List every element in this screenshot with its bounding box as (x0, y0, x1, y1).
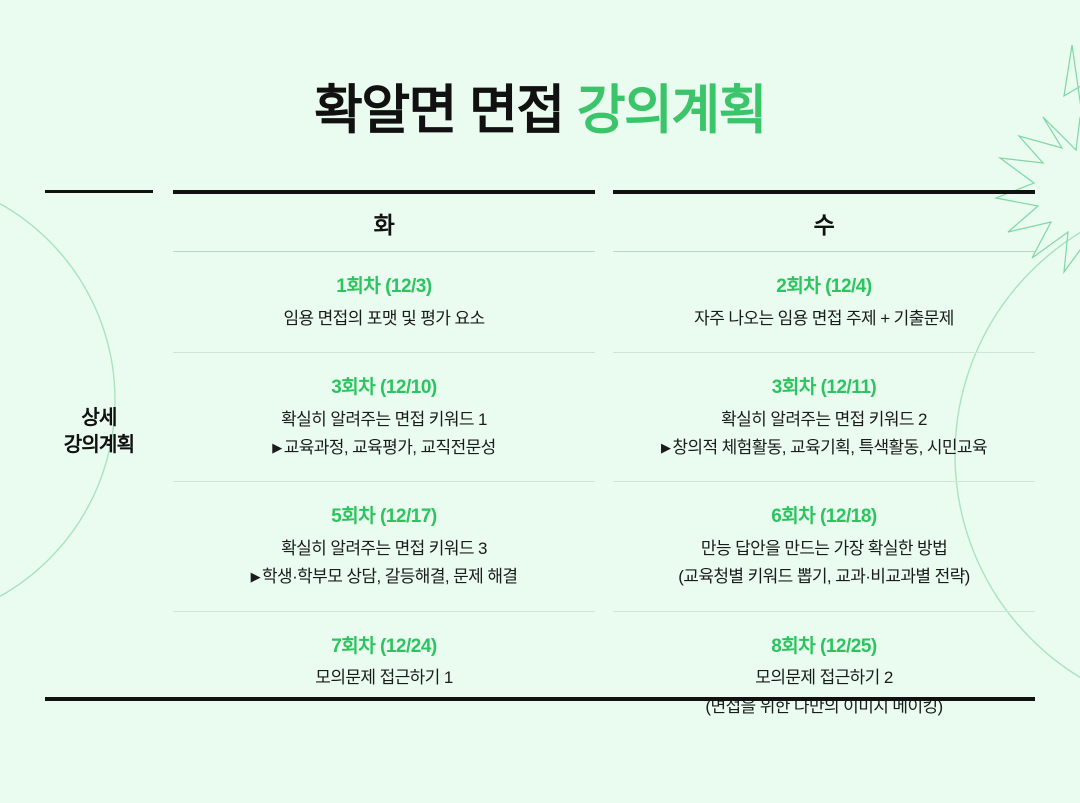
row-label-spacer (45, 612, 153, 740)
session-description: 자주 나오는 임용 면접 주제 + 기출문제 (619, 306, 1029, 332)
cell-wed-1: 2회차 (12/4) 자주 나오는 임용 면접 주제 + 기출문제 (613, 252, 1035, 353)
table-row: 5회차 (12/17) 확실히 알려주는 면접 키워드 3 ▶학생·학부모 상담… (45, 482, 1035, 611)
row-label-spacer (45, 482, 153, 611)
header-label-spacer (45, 194, 153, 252)
column-gap (595, 353, 613, 482)
table-bottom-rule (45, 697, 1035, 701)
session-title: 7회차 (12/24) (179, 634, 589, 660)
session-title: 2회차 (12/4) (619, 274, 1029, 300)
cell-tue-1: 1회차 (12/3) 임용 면접의 포맷 및 평가 요소 (173, 252, 595, 353)
cell-tue-4: 7회차 (12/24) 모의문제 접근하기 1 (173, 612, 595, 740)
session-title: 6회차 (12/18) (619, 504, 1029, 530)
column-gap (595, 612, 613, 740)
table-row: 7회차 (12/24) 모의문제 접근하기 1 8회차 (12/25) 모의문제… (45, 612, 1035, 740)
bullet-arrow-icon: ▶ (251, 569, 260, 584)
session-title: 5회차 (12/17) (179, 504, 589, 530)
cell-tue-3: 5회차 (12/17) 확실히 알려주는 면접 키워드 3 ▶학생·학부모 상담… (173, 482, 595, 611)
session-subdetail: ▶창의적 체험활동, 교육기획, 특색활동, 시민교육 (619, 435, 1029, 461)
cell-wed-4: 8회차 (12/25) 모의문제 접근하기 2 (면접을 위한 나만의 이미지 … (613, 612, 1035, 740)
session-description: 확실히 알려주는 면접 키워드 3 (179, 536, 589, 562)
row-label-detailed-plan: 상세 강의계획 (45, 405, 153, 459)
session-subdetail: ▶학생·학부모 상담, 갈등해결, 문제 해결 (179, 564, 589, 590)
column-gap (595, 194, 613, 252)
row-label-spacer (45, 252, 153, 353)
table-row: 3회차 (12/10) 확실히 알려주는 면접 키워드 1 ▶교육과정, 교육평… (45, 353, 1035, 482)
row-label-line2: 강의계획 (45, 432, 153, 459)
column-gap (595, 252, 613, 353)
session-title: 3회차 (12/10) (179, 375, 589, 401)
cell-wed-3: 6회차 (12/18) 만능 답안을 만드는 가장 확실한 방법 (교육청별 키… (613, 482, 1035, 611)
slide-page: 확알면 면접 강의계획 화 수 (0, 0, 1080, 803)
cell-wed-2: 3회차 (12/11) 확실히 알려주는 면접 키워드 2 ▶창의적 체험활동,… (613, 353, 1035, 482)
session-subdetail: (교육청별 키워드 뽑기, 교과·비교과별 전략) (619, 564, 1029, 590)
session-description: 모의문제 접근하기 1 (179, 665, 589, 691)
session-description: 만능 답안을 만드는 가장 확실한 방법 (619, 536, 1029, 562)
session-description: 모의문제 접근하기 2 (619, 665, 1029, 691)
session-description: 확실히 알려주는 면접 키워드 1 (179, 407, 589, 433)
cell-tue-2: 3회차 (12/10) 확실히 알려주는 면접 키워드 1 ▶교육과정, 교육평… (173, 353, 595, 482)
column-header-wednesday-label: 수 (814, 206, 835, 240)
session-title: 3회차 (12/11) (619, 375, 1029, 401)
page-title-green-part: 강의계획 (577, 81, 766, 140)
session-description: 임용 면접의 포맷 및 평가 요소 (179, 306, 589, 332)
session-title: 1회차 (12/3) (179, 274, 589, 300)
session-subdetail-text: 학생·학부모 상담, 갈등해결, 문제 해결 (262, 567, 517, 586)
session-title: 8회차 (12/25) (619, 634, 1029, 660)
column-header-wednesday: 수 (613, 194, 1035, 252)
session-subdetail-text: 창의적 체험활동, 교육기획, 특색활동, 시민교육 (672, 438, 987, 457)
bullet-arrow-icon: ▶ (661, 440, 670, 455)
session-subdetail: ▶교육과정, 교육평가, 교직전문성 (179, 435, 589, 461)
column-gap (595, 482, 613, 611)
page-title: 확알면 면접 강의계획 (0, 84, 1080, 137)
column-header-tuesday-label: 화 (374, 206, 395, 240)
table-header-row: 화 수 (45, 194, 1035, 252)
column-header-tuesday: 화 (173, 194, 595, 252)
session-description: 확실히 알려주는 면접 키워드 2 (619, 407, 1029, 433)
page-title-dark-part: 확알면 면접 (314, 81, 577, 140)
bullet-arrow-icon: ▶ (272, 440, 281, 455)
schedule-table: 화 수 1회차 (12/3) 임용 면접의 포맷 및 평가 요소 2회차 (12… (45, 190, 1035, 740)
table-row: 1회차 (12/3) 임용 면접의 포맷 및 평가 요소 2회차 (12/4) … (45, 252, 1035, 353)
row-label-line1: 상세 (45, 405, 153, 432)
session-subdetail-text: 교육과정, 교육평가, 교직전문성 (284, 438, 496, 457)
